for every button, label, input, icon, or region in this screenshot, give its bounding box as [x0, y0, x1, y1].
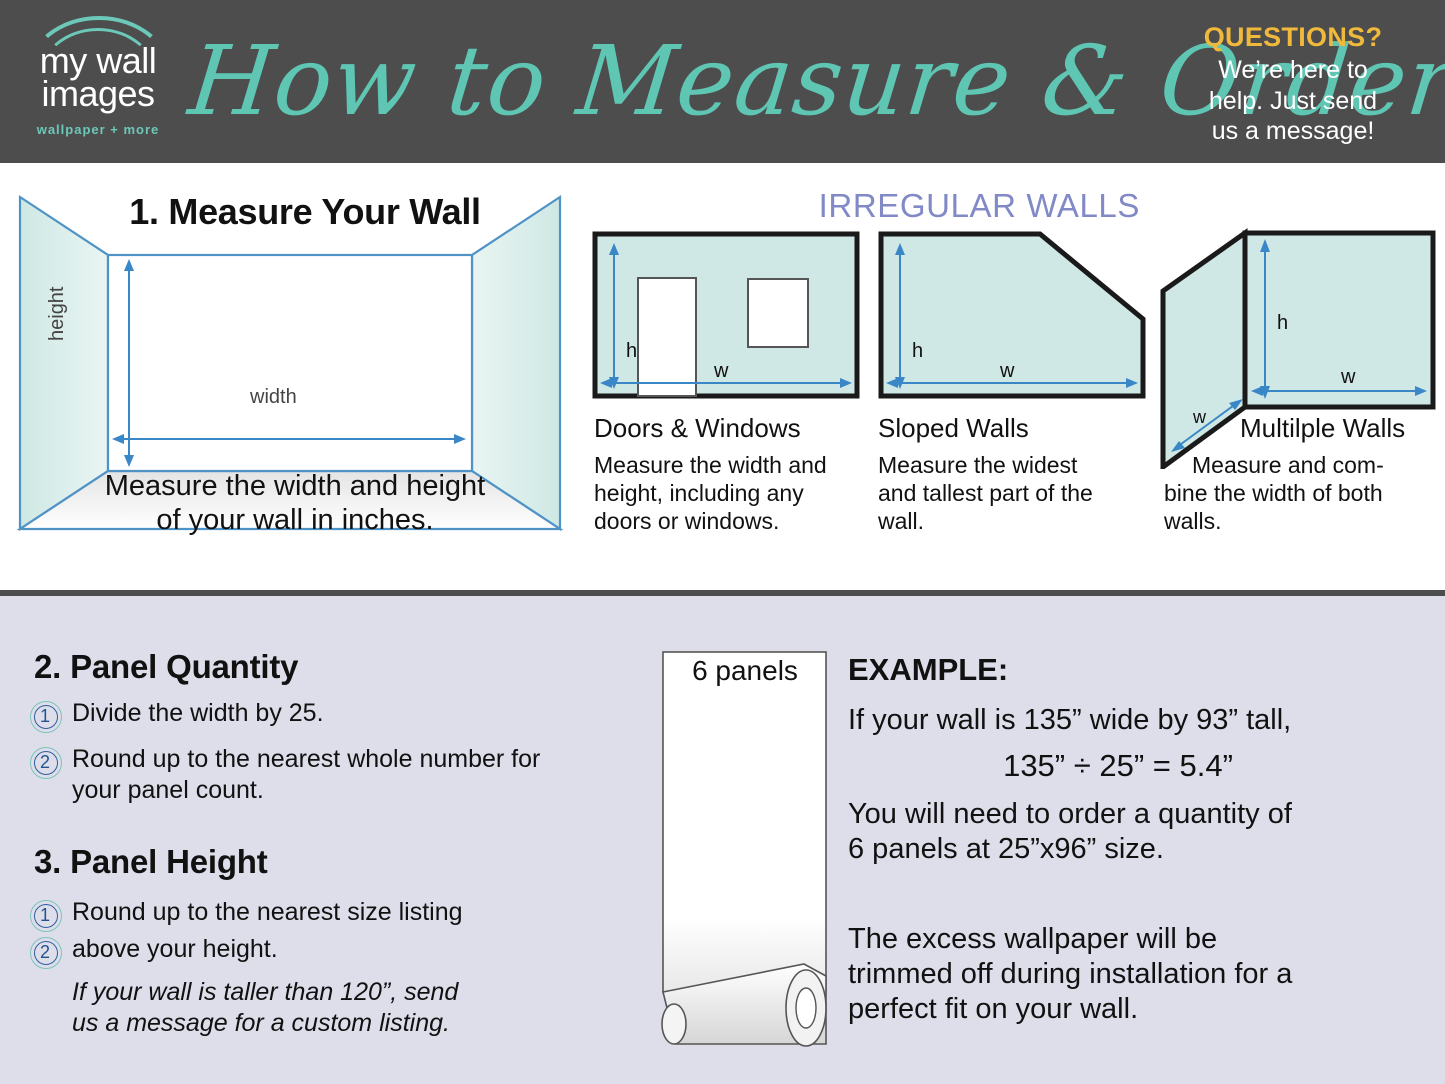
- step3-bullet-2: 2 above your height.: [30, 934, 560, 971]
- step3-note-line-1: If your wall is taller than 120”, send: [72, 977, 458, 1008]
- mw-body-line-2: bine the width of both: [1164, 479, 1442, 507]
- step1-caption-line-1: Measure the width and height: [30, 469, 560, 503]
- bullet-number-circle-icon: 2: [30, 937, 64, 971]
- sloped-walls-diagram: h w: [878, 231, 1146, 399]
- example-line-2b: 6 panels at 25”x96” size.: [848, 832, 1388, 867]
- dw-door-rect: [638, 278, 696, 396]
- height-label: height: [46, 287, 69, 342]
- logo-wordmark: my wall images: [18, 44, 178, 110]
- measure-section: height width 1. Measure Your Wall Measur…: [0, 163, 1445, 590]
- questions-body-line-3: us a message!: [1163, 116, 1423, 147]
- sw-body-line-2: and tallest part of the: [878, 479, 1148, 507]
- mw-right-wall: [1245, 233, 1433, 407]
- step1-caption-line-2: of your wall in inches.: [30, 503, 560, 537]
- example-equation: 135” ÷ 25” = 5.4”: [848, 748, 1388, 784]
- brand-logo: my wall images wallpaper + more: [18, 14, 178, 154]
- mw-w2-label: w: [1192, 407, 1207, 427]
- bullet-number: 1: [30, 701, 60, 731]
- example-line-3a: The excess wallpaper will be: [848, 922, 1393, 957]
- mw-body-line-1: Measure and com-: [1192, 451, 1442, 479]
- roll-panel-count-label: 6 panels: [660, 655, 830, 687]
- example-line-3: The excess wallpaper will be trimmed off…: [848, 922, 1393, 1026]
- doors-windows-caption-title: Doors & Windows: [594, 413, 801, 444]
- multiple-walls-caption-title: Multilple Walls: [1240, 413, 1405, 444]
- irregular-walls-heading: IRREGULAR WALLS: [700, 187, 1140, 225]
- bullet-number-circle-icon: 1: [30, 900, 64, 934]
- questions-body-line-1: We’re here to: [1163, 55, 1423, 86]
- page-title: How to Measure & Order: [182, 6, 1188, 156]
- step1-caption: Measure the width and height of your wal…: [30, 469, 560, 537]
- sw-body-line-1: Measure the widest: [878, 451, 1148, 479]
- step2-bullet-2-text: Round up to the nearest whole number for…: [72, 744, 542, 807]
- dw-h-label: h: [626, 340, 637, 362]
- roll-core-ellipse: [796, 988, 816, 1028]
- step1-title: 1. Measure Your Wall: [75, 191, 535, 233]
- wallpaper-roll-illustration: [654, 646, 854, 1066]
- mw-body-line-3: walls.: [1164, 507, 1442, 535]
- mw-w-label: w: [1340, 366, 1356, 388]
- example-line-3c: perfect fit on your wall.: [848, 992, 1393, 1027]
- questions-body-line-2: help. Just send: [1163, 86, 1423, 117]
- bullet-number-circle-icon: 1: [30, 701, 64, 735]
- logo-line-2: images: [18, 77, 178, 110]
- questions-body: We’re here to help. Just send us a messa…: [1163, 55, 1423, 147]
- bullet-number-circle-icon: 2: [30, 747, 64, 781]
- example-line-2: You will need to order a quantity of 6 p…: [848, 797, 1388, 867]
- infographic-page: my wall images wallpaper + more How to M…: [0, 0, 1445, 1084]
- sw-h-label: h: [912, 340, 923, 362]
- bullet-number: 1: [30, 900, 60, 930]
- doors-windows-diagram: h w: [592, 231, 860, 399]
- header-bar: my wall images wallpaper + more How to M…: [0, 0, 1445, 163]
- roll-left-edge: [662, 1004, 686, 1044]
- step2-bullet-1: 1 Divide the width by 25.: [30, 698, 550, 735]
- example-heading: EXAMPLE:: [848, 652, 1008, 688]
- multiple-walls-caption-body: Measure and com- bine the width of both …: [1192, 451, 1442, 535]
- step3-bullet-1-text: Round up to the nearest size listing: [72, 897, 463, 928]
- dw-w-label: w: [713, 360, 729, 382]
- questions-heading: QUESTIONS?: [1163, 22, 1423, 53]
- sw-body-line-3: wall.: [878, 507, 1148, 535]
- width-label: width: [250, 386, 297, 409]
- step2-bullet-1-text: Divide the width by 25.: [72, 698, 324, 729]
- bullet-number: 2: [30, 937, 60, 967]
- sw-w-label: w: [999, 360, 1015, 382]
- example-line-3b: trimmed off during installation for a: [848, 957, 1393, 992]
- mw-h-label: h: [1277, 312, 1288, 334]
- dw-window-rect: [748, 279, 808, 347]
- dw-body-line-2: height, including any: [594, 479, 864, 507]
- mw-left-wall: [1163, 233, 1245, 467]
- step3-bullet-2-text: above your height.: [72, 934, 278, 965]
- sloped-walls-caption-body: Measure the widest and tallest part of t…: [878, 451, 1148, 535]
- step3-title: 3. Panel Height: [34, 843, 268, 881]
- bullet-number: 2: [30, 747, 60, 777]
- step2-bullet-2: 2 Round up to the nearest whole number f…: [30, 744, 550, 807]
- dw-body-line-3: doors or windows.: [594, 507, 864, 535]
- example-line-1: If your wall is 135” wide by 93” tall,: [848, 703, 1291, 738]
- roll-sheet: [663, 652, 826, 992]
- dw-body-line-1: Measure the width and: [594, 451, 864, 479]
- step3-bullet-1: 1 Round up to the nearest size listing: [30, 897, 560, 934]
- step3-note: If your wall is taller than 120”, send u…: [72, 977, 458, 1040]
- example-line-2a: You will need to order a quantity of: [848, 797, 1388, 832]
- sloped-walls-caption-title: Sloped Walls: [878, 413, 1029, 444]
- step3-note-line-2: us a message for a custom listing.: [72, 1008, 458, 1039]
- logo-tagline: wallpaper + more: [18, 122, 178, 137]
- step2-title: 2. Panel Quantity: [34, 648, 298, 686]
- questions-block: QUESTIONS? We’re here to help. Just send…: [1163, 22, 1423, 147]
- doors-windows-caption-body: Measure the width and height, including …: [594, 451, 864, 535]
